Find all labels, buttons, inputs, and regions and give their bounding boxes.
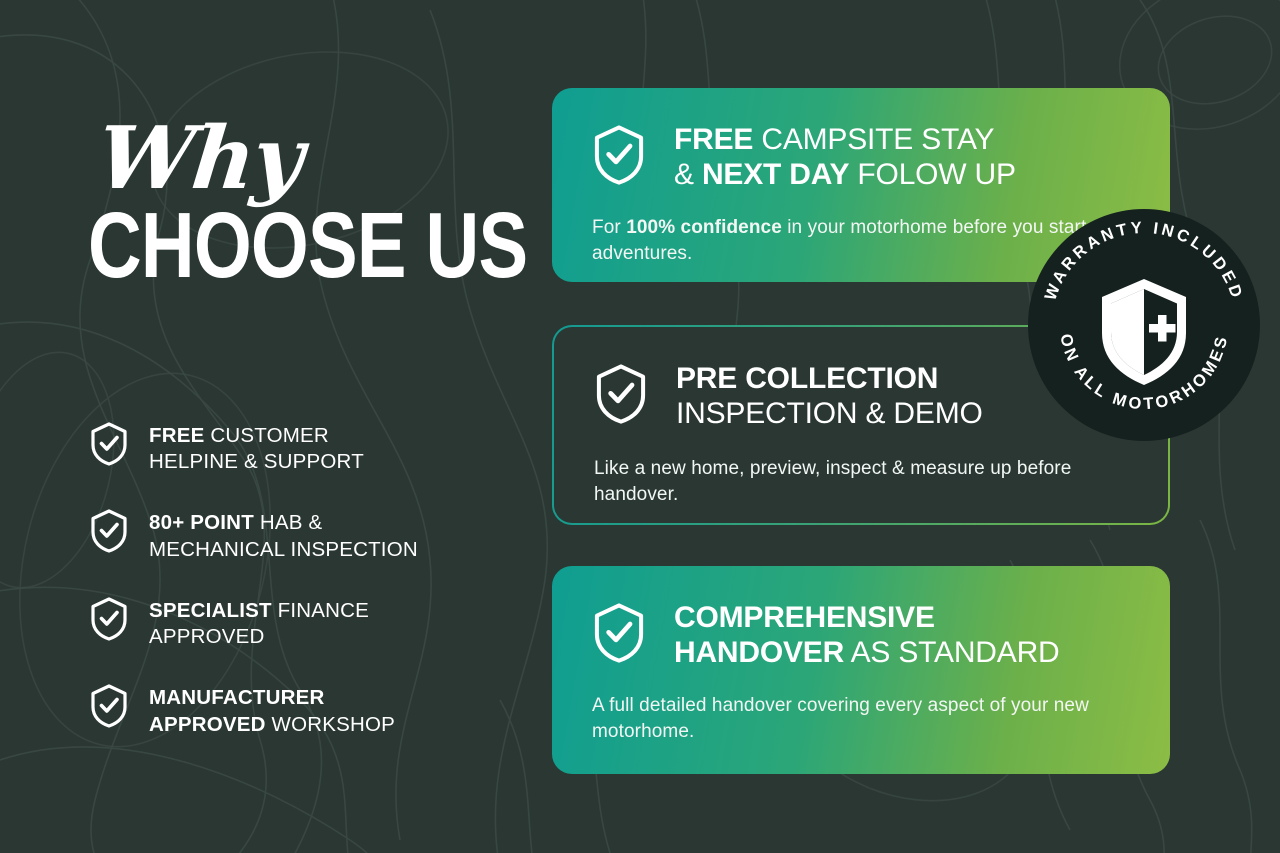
card-title: PRE COLLECTION INSPECTION & DEMO [676,360,983,432]
card-title: FREE CAMPSITE STAY & NEXT DAY FOLOW UP [674,121,1016,193]
list-item-bold: 80+ POINT [149,511,254,534]
warranty-included-badge: WARRANTY INCLUDED ON ALL MOTORHOMES [1028,209,1260,441]
card-title: COMPREHENSIVE HANDOVER AS STANDARD [674,599,1060,671]
page-title-main: CHOOSE US [88,203,424,289]
shield-check-icon [88,508,130,559]
page-title-script-word: Why [94,120,516,197]
card-title-pre-2: & [674,158,702,191]
list-item-line2-bold: APPROVED [149,713,266,736]
list-item: 80+ POINT HAB & MECHANICAL INSPECTION [88,507,508,562]
list-item-rest: HAB & [254,511,322,534]
card-title-bold-1: FREE [674,123,753,156]
shield-check-icon [88,683,130,734]
list-item-label: 80+ POINT HAB & MECHANICAL INSPECTION [149,507,418,562]
shield-check-icon [88,421,130,472]
card-header: COMPREHENSIVE HANDOVER AS STANDARD [590,599,1136,671]
page-title-block: Why CHOOSE US [88,120,508,289]
benefits-list: FREE CUSTOMER HELPINE & SUPPORT 80+ POIN… [88,420,508,738]
card-description-pre: A full detailed handover covering every … [592,695,1089,742]
list-item-label: SPECIALIST FINANCE APPROVED [149,595,369,650]
card-description: Like a new home, preview, inspect & meas… [594,456,1134,508]
poster-canvas: Why CHOOSE US FREE CUSTOMER HELPINE & SU… [0,0,1280,853]
list-item-rest: CUSTOMER [204,424,328,447]
list-item-line2: HELPINE & SUPPORT [149,450,364,473]
card-title-bold-2: NEXT DAY [702,158,849,191]
card-title-rest-2: INSPECTION & DEMO [676,397,983,430]
list-item: SPECIALIST FINANCE APPROVED [88,595,508,650]
card-header: FREE CAMPSITE STAY & NEXT DAY FOLOW UP [590,121,1136,193]
card-title-rest-1: CAMPSITE STAY [753,123,994,156]
list-item-line2: APPROVED [149,625,265,648]
list-item: MANUFACTURER APPROVED WORKSHOP [88,682,508,737]
card-title-bold-1: COMPREHENSIVE [674,601,935,634]
card-description-bold: 100% confidence [626,217,782,238]
list-item-bold: SPECIALIST [149,599,272,622]
feature-card-comprehensive-handover: COMPREHENSIVE HANDOVER AS STANDARD A ful… [552,566,1170,774]
card-title-rest-2: AS STANDARD [844,636,1059,669]
list-item-label: MANUFACTURER APPROVED WORKSHOP [149,682,395,737]
shield-check-icon [88,596,130,647]
card-title-bold-1: PRE COLLECTION [676,362,938,395]
list-item-line2: MECHANICAL INSPECTION [149,538,418,561]
card-description-pre: For [592,217,626,238]
shield-check-icon [592,362,650,431]
list-item-rest: FINANCE [272,599,369,622]
list-item-label: FREE CUSTOMER HELPINE & SUPPORT [149,420,364,475]
shield-check-icon [590,601,648,670]
shield-check-icon [590,123,648,192]
card-title-rest-2: FOLOW UP [849,158,1016,191]
card-description: A full detailed handover covering every … [592,693,1136,745]
list-item: FREE CUSTOMER HELPINE & SUPPORT [88,420,508,475]
list-item-bold: MANUFACTURER [149,686,325,709]
card-description-pre: Like a new home, preview, inspect & meas… [594,458,1071,505]
list-item-bold: FREE [149,424,204,447]
card-title-bold-2: HANDOVER [674,636,844,669]
list-item-line2: WORKSHOP [266,713,395,736]
